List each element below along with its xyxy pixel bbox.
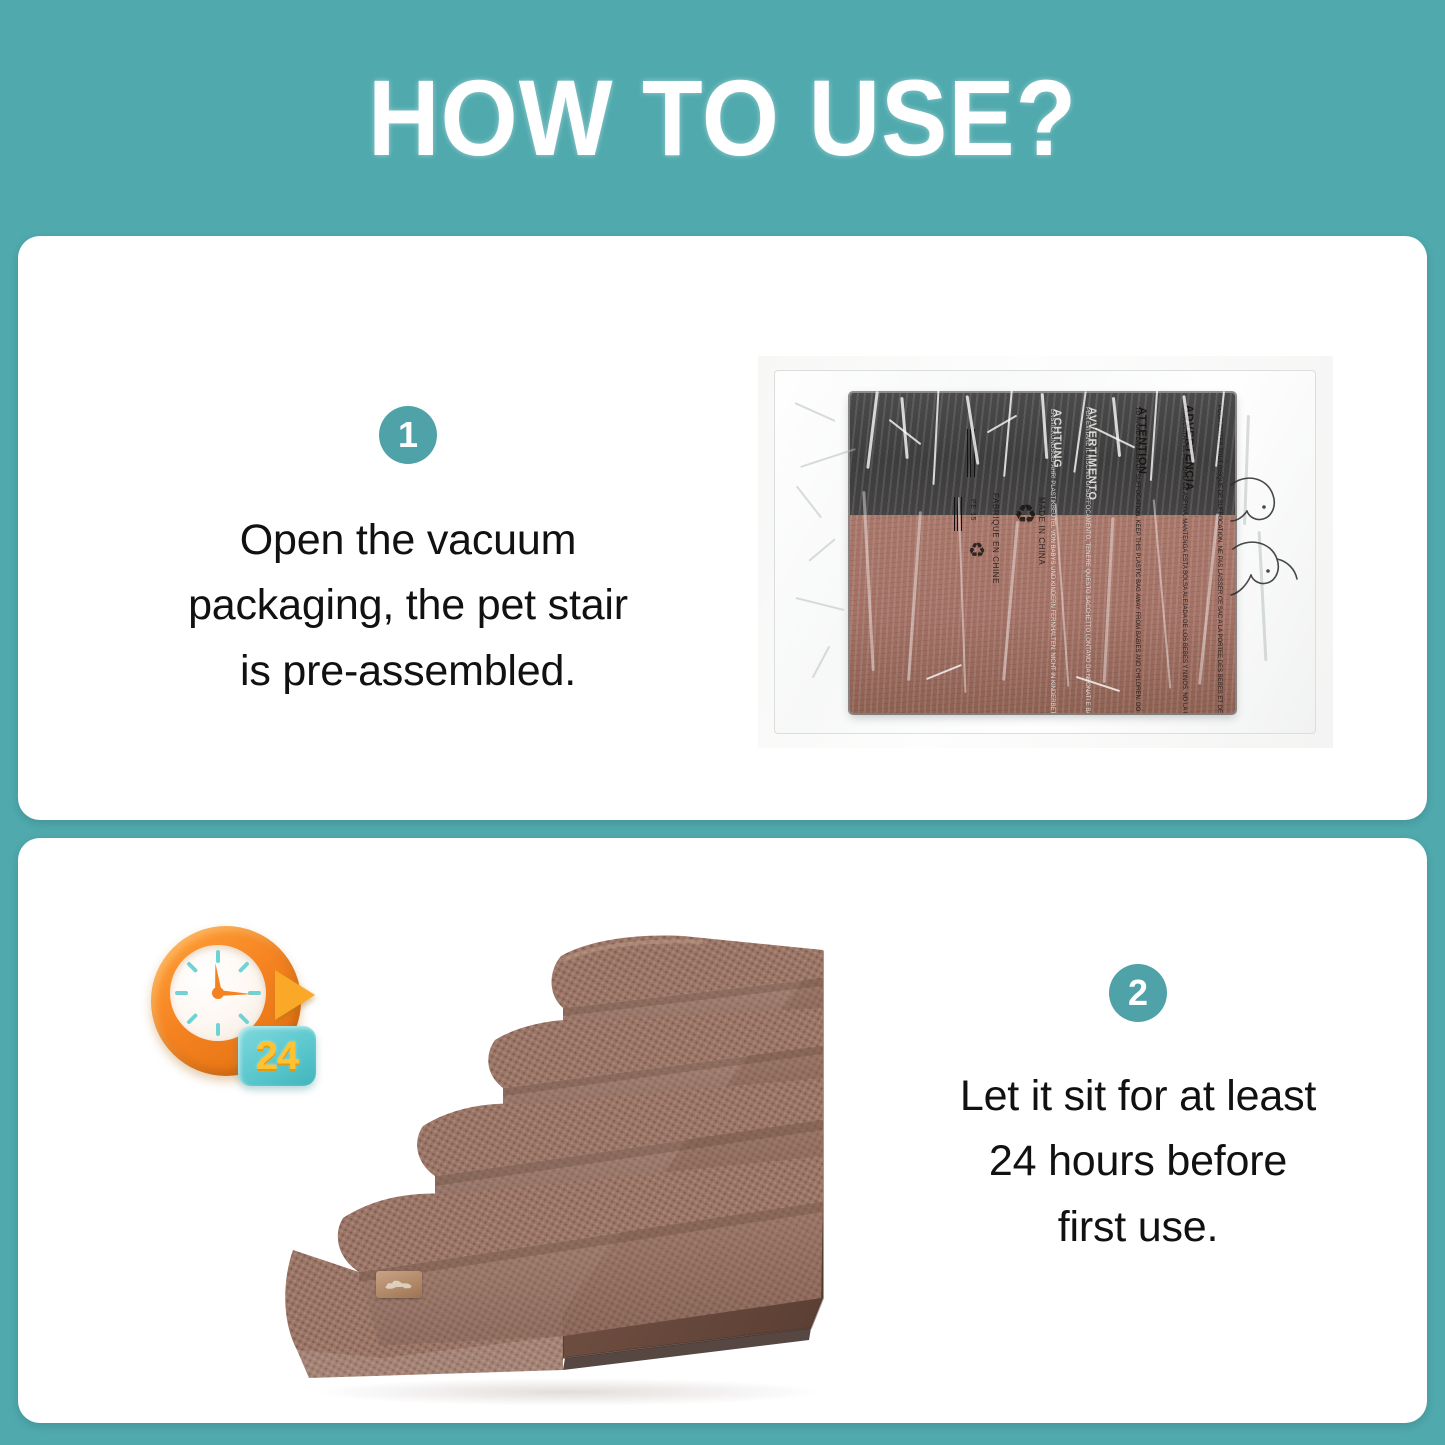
clock-center-dot [212, 987, 224, 999]
material-code-label: PE 15 [969, 499, 976, 521]
step-1-line-3: is pre-assembled. [188, 639, 628, 704]
barcode-secondary [954, 497, 962, 531]
step-1-text-column: 1 Open the vacuum packaging, the pet sta… [118, 406, 698, 704]
step-2-line-1: Let it sit for at least [960, 1064, 1316, 1129]
step-2-line-2: 24 hours before [960, 1129, 1316, 1194]
recycling-icon-large: ♻ [1014, 501, 1037, 527]
brand-logo-tag [376, 1271, 422, 1298]
pet-stairs-illustration [263, 858, 873, 1423]
step-1-card: 1 Open the vacuum packaging, the pet sta… [18, 236, 1427, 820]
clock-tick [186, 1013, 198, 1025]
clock-tick [238, 1013, 250, 1025]
step-2-badge: 2 [1109, 964, 1167, 1022]
page-title: HOW TO USE? [368, 64, 1077, 172]
infographic-page: HOW TO USE? 1 Open the vacuum packaging,… [0, 0, 1445, 1445]
step-2-line-3: first use. [960, 1195, 1316, 1260]
clock-tick [248, 991, 261, 995]
vacuum-package-image: MADE IN CHINA FABRIQUE EN CHINE PE 15 ♻ … [758, 356, 1333, 748]
dog-logo-icon [384, 1278, 414, 1291]
clock-tick [238, 961, 250, 973]
step-1-line-1: Open the vacuum [188, 508, 628, 573]
recycling-icon: ♻ [968, 541, 986, 561]
step-2-card: 24 [18, 838, 1427, 1423]
clock-tick [186, 961, 198, 973]
warning-body-es: PARA EVITAR EL PELIGRO DE ASFIXIA, MANTE… [1180, 405, 1187, 713]
origin-label-fr: FABRIQUE EN CHINE [991, 493, 1000, 584]
warning-body-fr: POUR EVITER TOUT RISQUE DE SUFFOCATION, … [1215, 405, 1222, 713]
pet-stairs-image [263, 858, 873, 1423]
warning-body-it: PER EVITARE IL RISCHIO DI SOFFOCAMENTO, … [1083, 407, 1090, 713]
step-1-description: Open the vacuum packaging, the pet stair… [188, 508, 628, 704]
dog-line-art-icon [1223, 467, 1309, 627]
step-1-line-2: packaging, the pet stair [188, 573, 628, 638]
clock-tick [216, 1023, 220, 1036]
barcode [967, 429, 976, 477]
step-1-badge: 1 [379, 406, 437, 464]
header-banner: HOW TO USE? [0, 0, 1445, 236]
plastic-bag: MADE IN CHINA FABRIQUE EN CHINE PE 15 ♻ … [774, 370, 1316, 734]
clock-tick [175, 991, 188, 995]
compressed-foam-block: MADE IN CHINA FABRIQUE EN CHINE PE 15 ♻ … [850, 393, 1235, 713]
step-2-description: Let it sit for at least 24 hours before … [960, 1064, 1316, 1260]
warning-body-de: ERSTICKUNGSGEFAHR! PLASTIKBEUTEL VON BAB… [1048, 409, 1055, 713]
clock-tick [216, 950, 220, 963]
warning-body-en: TO AVOID DANGER OF SUFFOCATION, KEEP THI… [1133, 407, 1140, 713]
step-2-text-column: 2 Let it sit for at least 24 hours befor… [853, 964, 1423, 1260]
origin-label-en: MADE IN CHINA [1037, 497, 1046, 565]
